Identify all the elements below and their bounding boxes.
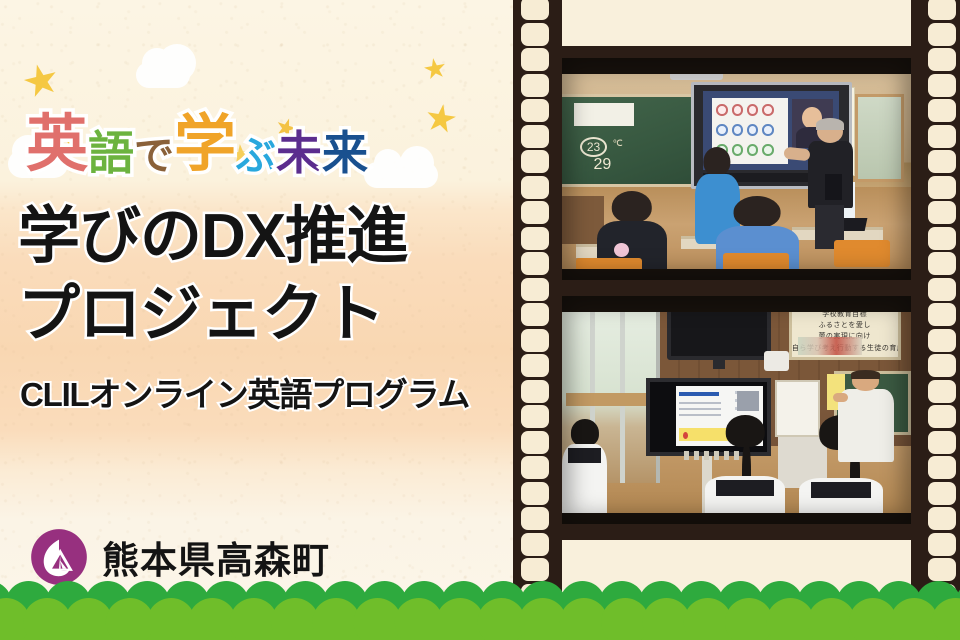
shirt-print — [614, 243, 629, 257]
filmstrip-perforation — [928, 99, 956, 122]
wall-sensor-icon — [764, 351, 788, 372]
filmstrip-perforation — [928, 482, 956, 505]
filmstrip-perforation — [928, 227, 956, 250]
headline-char-6: 未 — [276, 130, 322, 176]
filmstrip-photo-elementary[interactable]: 23 ℃ 29 — [562, 58, 911, 280]
headline-char-4: 学 — [174, 114, 236, 176]
green-chalkboard: 23 ℃ 29 — [562, 94, 698, 187]
slide-text-line — [679, 402, 721, 404]
photo-top-letterbox — [562, 296, 911, 312]
headline-colored: 英 語 で 学 ぶ 未 来 — [26, 88, 476, 176]
slide-icon-row — [716, 103, 783, 117]
filmstrip-perforation — [928, 507, 956, 530]
grass-decoration — [0, 578, 960, 640]
filmstrip-perforation — [521, 125, 549, 148]
filmstrip-perforation — [928, 533, 956, 556]
filmstrip-perforation — [928, 456, 956, 479]
headline-char-3: で — [134, 136, 174, 176]
filmstrip-perforation — [521, 252, 549, 275]
filmstrip-perforation — [521, 329, 549, 352]
filmstrip-perforation — [928, 303, 956, 326]
filmstrip-perforation — [521, 201, 549, 224]
filmstrip-blank-frame-top — [562, 0, 911, 46]
student-center — [705, 415, 785, 524]
filmstrip-perforation — [928, 405, 956, 428]
photo-bottom-letterbox — [562, 269, 911, 280]
filmstrip-perforation — [521, 48, 549, 71]
filmstrip-perforation — [928, 150, 956, 173]
student-head — [704, 147, 731, 176]
filmstrip-perforation — [928, 329, 956, 352]
filmstrip-perforation — [521, 99, 549, 122]
title-block: 学びのDX推進 プロジェクト CLILオンライン英語プログラム — [10, 206, 510, 416]
photo-juniorhigh-clil-lesson: 学校教育目標 ふるさとを愛し 夢の実現に向け 自ら学び考え行動する生徒の育成 — [562, 296, 911, 524]
poster-canvas: 英 語 で 学 ぶ 未 来 学びのDX推進 プロジェクト CLILオンライン英語… — [0, 0, 960, 640]
page-subtitle: CLILオンライン英語プログラム — [10, 368, 510, 416]
filmstrip-perforation — [928, 125, 956, 148]
filmstrip-perforation — [928, 201, 956, 224]
filmstrip-perforation — [521, 278, 549, 301]
filmstrip-perforation — [521, 354, 549, 377]
filmstrip-perforation — [928, 278, 956, 301]
filmstrip-photo-juniorhigh[interactable]: 学校教育目標 ふるさとを愛し 夢の実現に向け 自ら学び考え行動する生徒の育成 — [562, 296, 911, 524]
chalkboard-notice — [574, 103, 634, 126]
filmstrip-perforation — [521, 456, 549, 479]
slide-video-thumbnail — [737, 391, 760, 411]
filmstrip-perforation — [928, 380, 956, 403]
filmstrip-perforation — [928, 23, 956, 46]
tv-mount-stem — [713, 356, 725, 369]
headline-char-5: ぶ — [236, 136, 276, 176]
filmstrip-perforations-left — [513, 0, 557, 606]
balcony-rail — [566, 393, 652, 406]
filmstrip-perforation — [521, 150, 549, 173]
filmstrip-perforation — [521, 380, 549, 403]
filmstrip-perforation — [521, 74, 549, 97]
filmstrip: 23 ℃ 29 — [513, 0, 960, 606]
slide-heading-bar — [679, 392, 719, 396]
filmstrip-perforation — [928, 252, 956, 275]
headline-char-7: 来 — [322, 130, 368, 176]
brand-name: 熊本県高森町 — [102, 530, 330, 584]
uniform-collar — [716, 480, 774, 495]
headline-char-1: 英 — [26, 114, 88, 176]
filmstrip-perforation — [521, 405, 549, 428]
filmstrip-perforation — [521, 431, 549, 454]
filmstrip-perforation — [521, 507, 549, 530]
slide-text-line — [679, 408, 721, 410]
poster-line: ふるさとを愛し — [792, 320, 898, 330]
filmstrip-perforation — [521, 303, 549, 326]
slide-icon-row — [716, 123, 783, 137]
teacher-arm — [833, 393, 848, 402]
filmstrip-perforation — [928, 354, 956, 377]
classroom-chair — [834, 240, 890, 267]
teacher-shoulder-bag — [825, 174, 843, 200]
filmstrip-perforation — [521, 533, 549, 556]
page-title-line-2: プロジェクト — [10, 284, 510, 346]
window-mullion — [620, 296, 625, 483]
filmstrip-perforation — [521, 482, 549, 505]
chalkboard-degree-symbol: ℃ — [613, 138, 623, 149]
filmstrip-perforation — [521, 176, 549, 199]
photo-top-letterbox — [562, 58, 911, 74]
filmstrip-perforation — [928, 176, 956, 199]
filmstrip-perforation — [928, 431, 956, 454]
cloud-decoration — [136, 62, 190, 88]
filmstrip-perforation — [521, 23, 549, 46]
teacher-hair — [816, 118, 844, 131]
chalkboard-number-29: 29 — [594, 156, 612, 174]
photo-elementary-clil-lesson: 23 ℃ 29 — [562, 58, 911, 280]
filmstrip-perforation — [928, 48, 956, 71]
chalkboard-number-23: 23 — [580, 137, 607, 157]
teacher-standing — [838, 371, 894, 462]
teacher-standing — [806, 120, 855, 249]
filmstrip-perforation — [521, 0, 549, 20]
uniform-collar — [568, 448, 601, 463]
photo-bottom-letterbox — [562, 513, 911, 524]
teacher-hair — [851, 370, 880, 378]
uniform-collar — [811, 482, 871, 497]
filmstrip-perforations-right — [920, 0, 960, 606]
student-head — [612, 191, 652, 223]
poster-artwork — [798, 337, 861, 354]
student-head — [734, 196, 781, 228]
page-title-line-1: 学びのDX推進 — [10, 206, 510, 268]
student-left — [562, 419, 607, 524]
headline-char-2: 語 — [88, 130, 134, 176]
classroom-window — [855, 94, 904, 183]
student-hair — [571, 419, 599, 446]
filmstrip-perforation — [521, 227, 549, 250]
filmstrip-perforation — [928, 0, 956, 20]
filmstrip-perforation — [928, 74, 956, 97]
